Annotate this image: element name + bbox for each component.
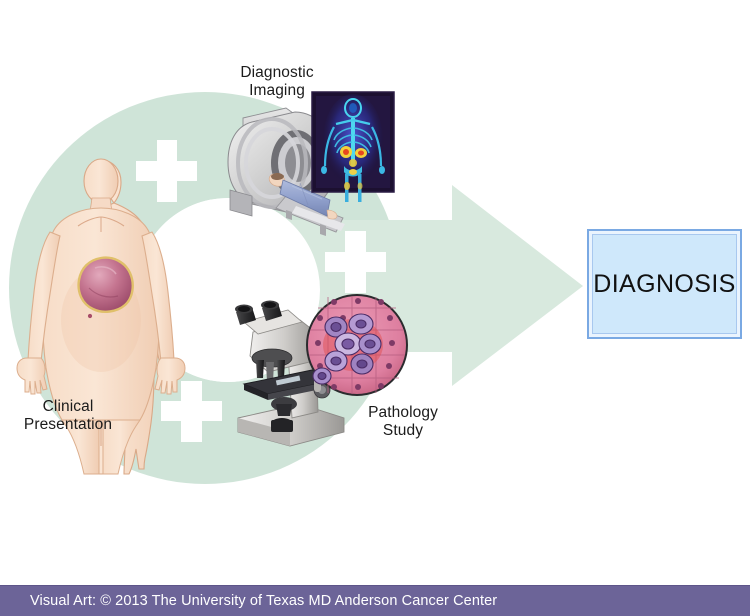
diagnosis-box: DIAGNOSIS [587,229,742,339]
pet-scan-image [312,92,394,202]
label-pathology-study: Pathology Study [340,404,466,440]
footer-bar: Visual Art: © 2013 The University of Tex… [0,585,750,616]
footer-credit-text: Visual Art: © 2013 The University of Tex… [30,593,497,609]
histology-circle [307,295,407,395]
diagram-canvas: Diagnostic Imaging Clinical Presentation… [0,0,750,616]
label-clinical-presentation: Clinical Presentation [2,398,134,434]
label-diagnostic-imaging: Diagnostic Imaging [212,64,342,100]
diagnosis-label: DIAGNOSIS [593,270,736,299]
